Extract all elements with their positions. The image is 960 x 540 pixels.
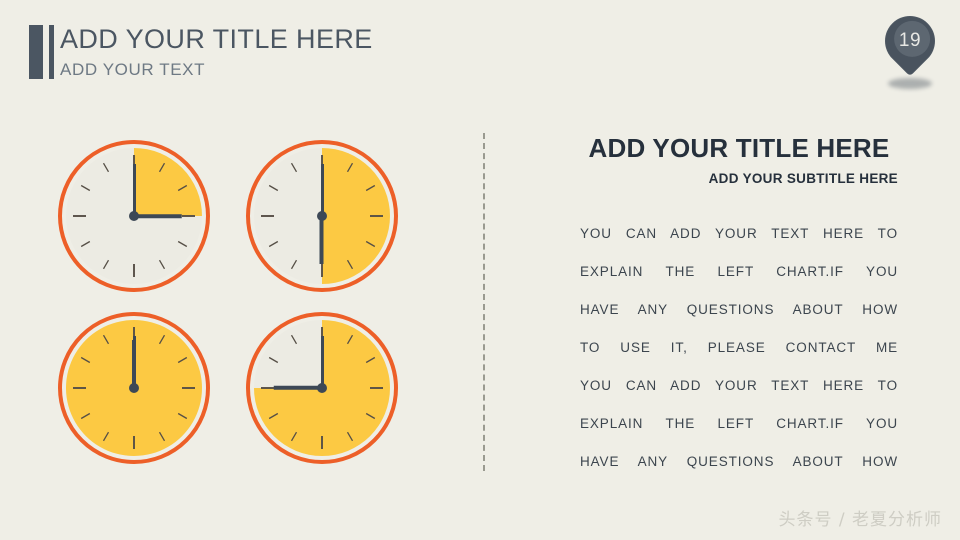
double-bar-icon: [29, 25, 54, 79]
clock-hand-short: [320, 216, 324, 264]
clock-top-right[interactable]: [246, 140, 398, 292]
content-body-line: YOU CAN ADD YOUR TEXT HERE TO: [580, 215, 898, 253]
clock-gauge-group: [58, 140, 418, 480]
page-title: ADD YOUR TITLE HERE: [60, 22, 373, 56]
content-body-line: EXPLAIN THE LEFT CHART.IF YOU: [580, 253, 898, 291]
clock-hand-short: [134, 214, 182, 218]
clock-center-dot: [317, 383, 327, 393]
content-body: YOU CAN ADD YOUR TEXT HERE TOEXPLAIN THE…: [580, 215, 898, 481]
clock-tick: [292, 260, 297, 269]
clock-center-dot: [317, 211, 327, 221]
page-number-text: 19: [885, 24, 935, 58]
page-number-badge: 19: [882, 16, 938, 92]
clock-tick: [269, 358, 278, 363]
clock-hand-short: [132, 340, 136, 388]
footer-watermark: 头条号 / 老夏分析师: [778, 505, 942, 530]
clock-center-dot: [129, 211, 139, 221]
clock-tick: [160, 260, 165, 269]
clock-tick: [269, 242, 278, 247]
clock-tick: [104, 260, 109, 269]
clock-hand-short: [274, 386, 322, 390]
clock-bottom-left[interactable]: [58, 312, 210, 464]
header-bar-thick: [29, 25, 43, 79]
header-text-group: ADD YOUR TITLE HERE ADD YOUR TEXT: [60, 22, 373, 82]
clock-center-dot: [129, 383, 139, 393]
badge-shadow: [888, 78, 932, 89]
content-subtitle: ADD YOUR SUBTITLE HERE: [580, 169, 898, 189]
slide-header: ADD YOUR TITLE HERE ADD YOUR TEXT: [0, 0, 960, 110]
content-body-line: HAVE ANY QUESTIONS ABOUT HOW: [580, 291, 898, 329]
clock-tick: [269, 186, 278, 191]
content-panel: ADD YOUR TITLE HERE ADD YOUR SUBTITLE HE…: [580, 132, 898, 481]
clock-hand-long: [321, 336, 324, 388]
clock-hand-long: [133, 164, 136, 216]
clock-tick: [178, 242, 187, 247]
clock-tick: [104, 163, 109, 172]
header-bar-thin: [49, 25, 54, 79]
content-title: ADD YOUR TITLE HERE: [580, 132, 898, 164]
clock-hand-long: [321, 164, 324, 216]
clock-top-left[interactable]: [58, 140, 210, 292]
content-body-line: HAVE ANY QUESTIONS ABOUT HOW: [580, 443, 898, 481]
vertical-dashed-divider: [483, 133, 485, 471]
content-body-line: EXPLAIN THE LEFT CHART.IF YOU: [580, 405, 898, 443]
clock-tick: [81, 242, 90, 247]
content-body-line: YOU CAN ADD YOUR TEXT HERE TO: [580, 367, 898, 405]
clock-tick: [292, 163, 297, 172]
clock-tick: [292, 335, 297, 344]
content-body-line: TO USE IT, PLEASE CONTACT ME: [580, 329, 898, 367]
clock-fill-wedge: [134, 148, 202, 216]
clock-tick: [81, 186, 90, 191]
clock-bottom-right[interactable]: [246, 312, 398, 464]
page-subtitle: ADD YOUR TEXT: [60, 58, 373, 82]
